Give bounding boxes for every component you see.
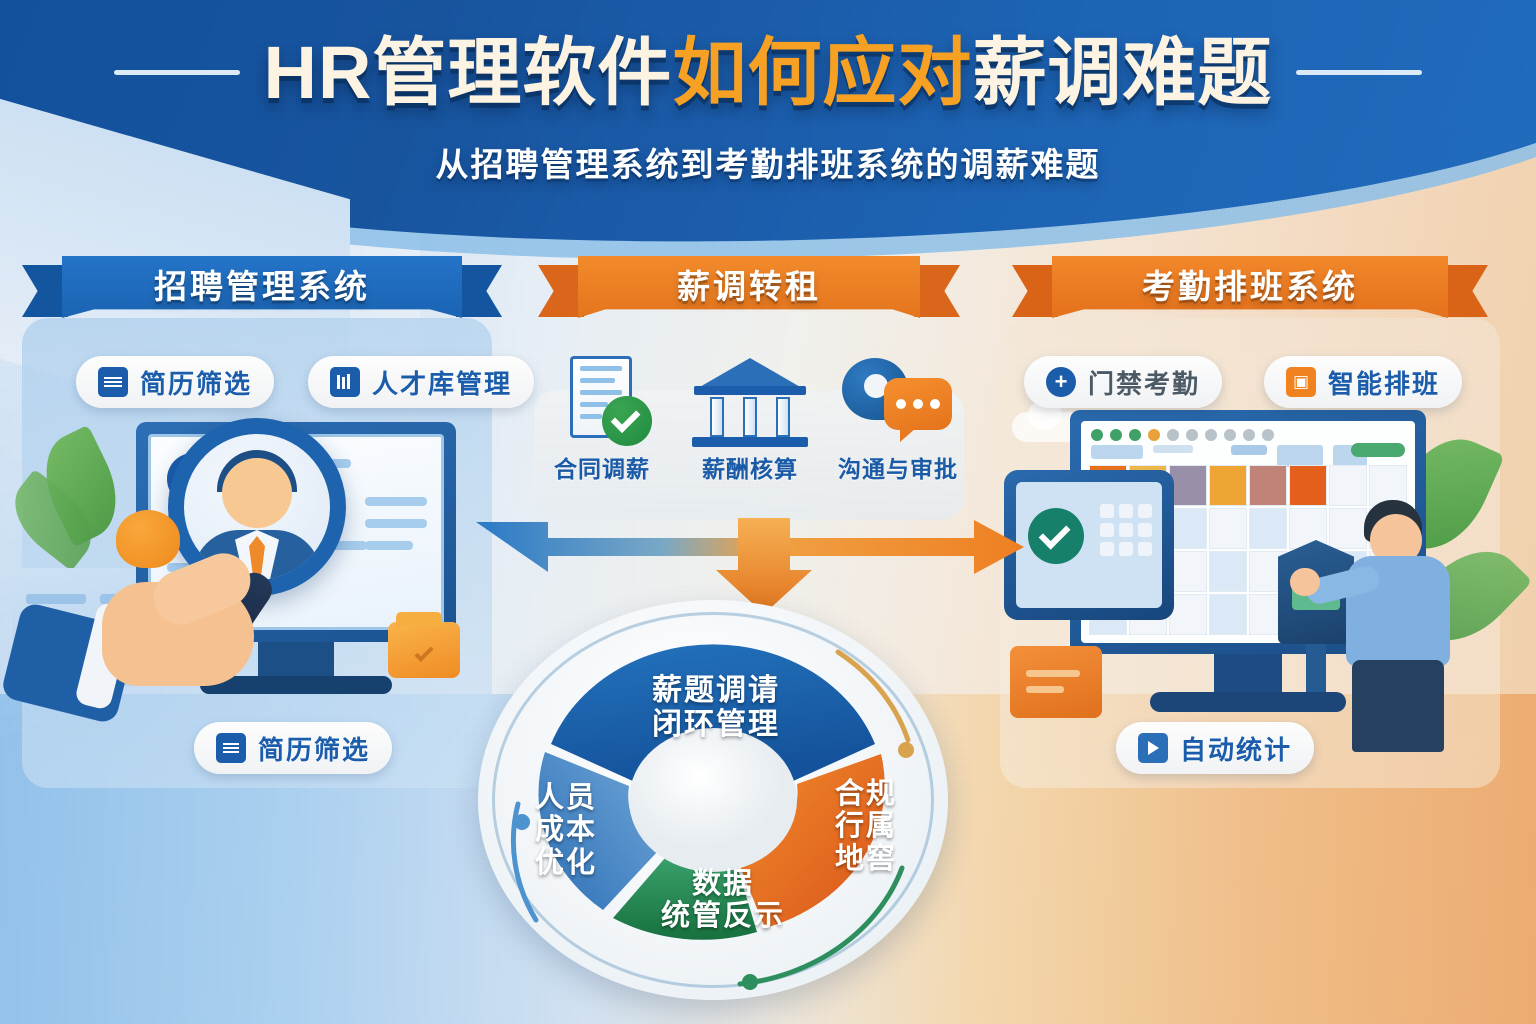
banner-attendance: 考勤排班系统 xyxy=(1052,256,1448,318)
tag-smart-scheduling[interactable]: ▣ 智能排班 xyxy=(1264,356,1462,408)
tag-talent-pool[interactable]: 人才库管理 xyxy=(308,356,534,408)
tag-attendance-footer[interactable]: 自动统计 xyxy=(1116,722,1314,774)
tablet-device xyxy=(1004,470,1174,620)
tag-access-attendance[interactable]: + 门禁考勤 xyxy=(1024,356,1222,408)
page-subtitle: 从招聘管理系统到考勤排班系统的调薪难题 xyxy=(0,138,1536,186)
storage-box-icon xyxy=(1010,646,1102,718)
salary-item-communication[interactable]: 沟通与审批 xyxy=(836,352,960,502)
salary-item-contract[interactable]: 合同调薪 xyxy=(540,352,664,502)
donut-segment-top-label: 薪题调请 闭环管理 xyxy=(606,674,826,741)
banner-recruitment-label: 招聘管理系统 xyxy=(154,260,370,308)
title-rule-left xyxy=(114,70,240,75)
keypad-icon xyxy=(1100,504,1152,556)
banner-attendance-label: 考勤排班系统 xyxy=(1142,260,1358,308)
tag-label: 简历筛选 xyxy=(140,364,252,401)
employee-figure xyxy=(1330,500,1480,750)
banner-salary-label: 薪调转租 xyxy=(677,260,821,308)
tag-label: 人才库管理 xyxy=(372,364,512,401)
folder-icon xyxy=(388,622,460,678)
title-rule-right xyxy=(1296,70,1422,75)
tag-label: 自动统计 xyxy=(1180,730,1292,767)
document-check-icon xyxy=(540,352,664,450)
title-segment-white-2: 薪调难题 xyxy=(972,31,1272,114)
hand-illustration xyxy=(24,558,274,738)
recruitment-illustration xyxy=(18,400,508,760)
infographic-canvas: HR管理软件如何应对薪调难题 从招聘管理系统到考勤排班系统的调薪难题 xyxy=(0,0,1536,1024)
salary-item-label: 沟通与审批 xyxy=(836,450,960,484)
donut-segment-bottom-label: 数据 统管反示 xyxy=(628,868,818,933)
list-icon xyxy=(98,367,128,397)
page-title: HR管理软件如何应对薪调难题 xyxy=(264,34,1273,112)
salary-icon-group: 合同调薪 薪酬核算 沟通与审批 xyxy=(540,352,960,502)
window-dots xyxy=(1091,429,1274,441)
donut-segment-left-label: 人员 成本 优化 xyxy=(496,782,636,879)
check-icon xyxy=(1028,508,1084,564)
play-icon xyxy=(1138,733,1168,763)
plus-circle-icon: + xyxy=(1046,367,1076,397)
donut-segment-right-label: 合规 行属 地窖 xyxy=(796,778,936,875)
tag-label: 智能排班 xyxy=(1328,364,1440,401)
orange-square-icon: ▣ xyxy=(1286,367,1316,397)
chat-bubbles-icon xyxy=(836,352,960,450)
title-segment-orange: 如何应对 xyxy=(672,31,972,114)
banner-salary: 薪调转租 xyxy=(578,256,920,318)
title-segment-white: HR管理软件 xyxy=(264,31,673,114)
tag-label: 简历筛选 xyxy=(258,730,370,767)
attendance-illustration xyxy=(1000,400,1520,770)
bank-icon xyxy=(688,352,812,450)
doc-icon xyxy=(216,733,246,763)
salary-cycle-donut-chart: 薪题调请 闭环管理 合规 行属 地窖 数据 统管反示 人员 成本 优化 xyxy=(478,600,948,1000)
banner-recruitment: 招聘管理系统 xyxy=(62,256,462,318)
salary-item-label: 薪酬核算 xyxy=(688,450,812,484)
tablet-screen xyxy=(1016,482,1162,608)
tag-resume-screening[interactable]: 简历筛选 xyxy=(76,356,274,408)
salary-item-payroll[interactable]: 薪酬核算 xyxy=(688,352,812,502)
title-row: HR管理软件如何应对薪调难题 xyxy=(0,34,1536,112)
tag-recruitment-footer[interactable]: 简历筛选 xyxy=(194,722,392,774)
title-block: HR管理软件如何应对薪调难题 从招聘管理系统到考勤排班系统的调薪难题 xyxy=(0,34,1536,186)
tag-label: 门禁考勤 xyxy=(1088,364,1200,401)
salary-item-label: 合同调薪 xyxy=(540,450,664,484)
grid-icon xyxy=(330,367,360,397)
